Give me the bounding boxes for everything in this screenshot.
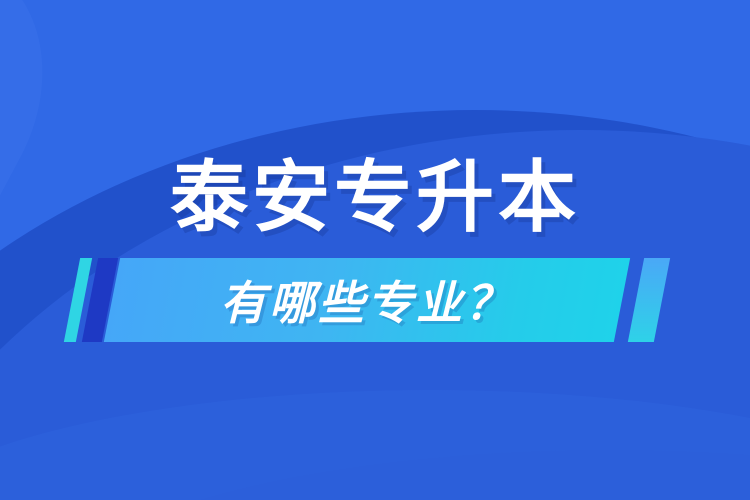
page-title: 泰安专升本 (0, 158, 750, 236)
promo-poster: 泰安专升本 有哪些专业？ (0, 0, 750, 500)
slash-right-gradient-icon (628, 258, 670, 342)
page-subtitle: 有哪些专业？ (112, 258, 622, 342)
